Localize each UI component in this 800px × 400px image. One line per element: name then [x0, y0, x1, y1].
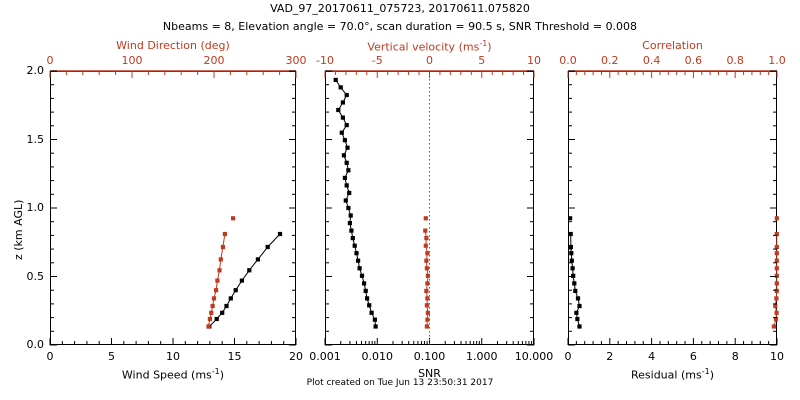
top-axis-title-residual: Correlation	[568, 39, 777, 52]
top-tick-label: 1.0	[737, 54, 800, 67]
y-tick-label: 0.5	[0, 270, 44, 283]
plot-footer: Plot created on Tue Jun 13 23:50:31 2017	[0, 378, 800, 388]
y-tick-label: 1.5	[0, 133, 44, 146]
vad-plot: VAD_97_20170611_075723, 20170611.075820 …	[0, 0, 800, 400]
y-tick-label: 2.0	[0, 64, 44, 77]
bottom-tick-label: 10	[737, 350, 800, 363]
y-tick-label: 0.0	[0, 338, 44, 351]
panel-residual: 02468100.00.20.40.60.81.0Residual (ms-1)…	[0, 0, 800, 400]
plot-frame-residual	[568, 71, 777, 345]
y-tick-label: 1.0	[0, 201, 44, 214]
